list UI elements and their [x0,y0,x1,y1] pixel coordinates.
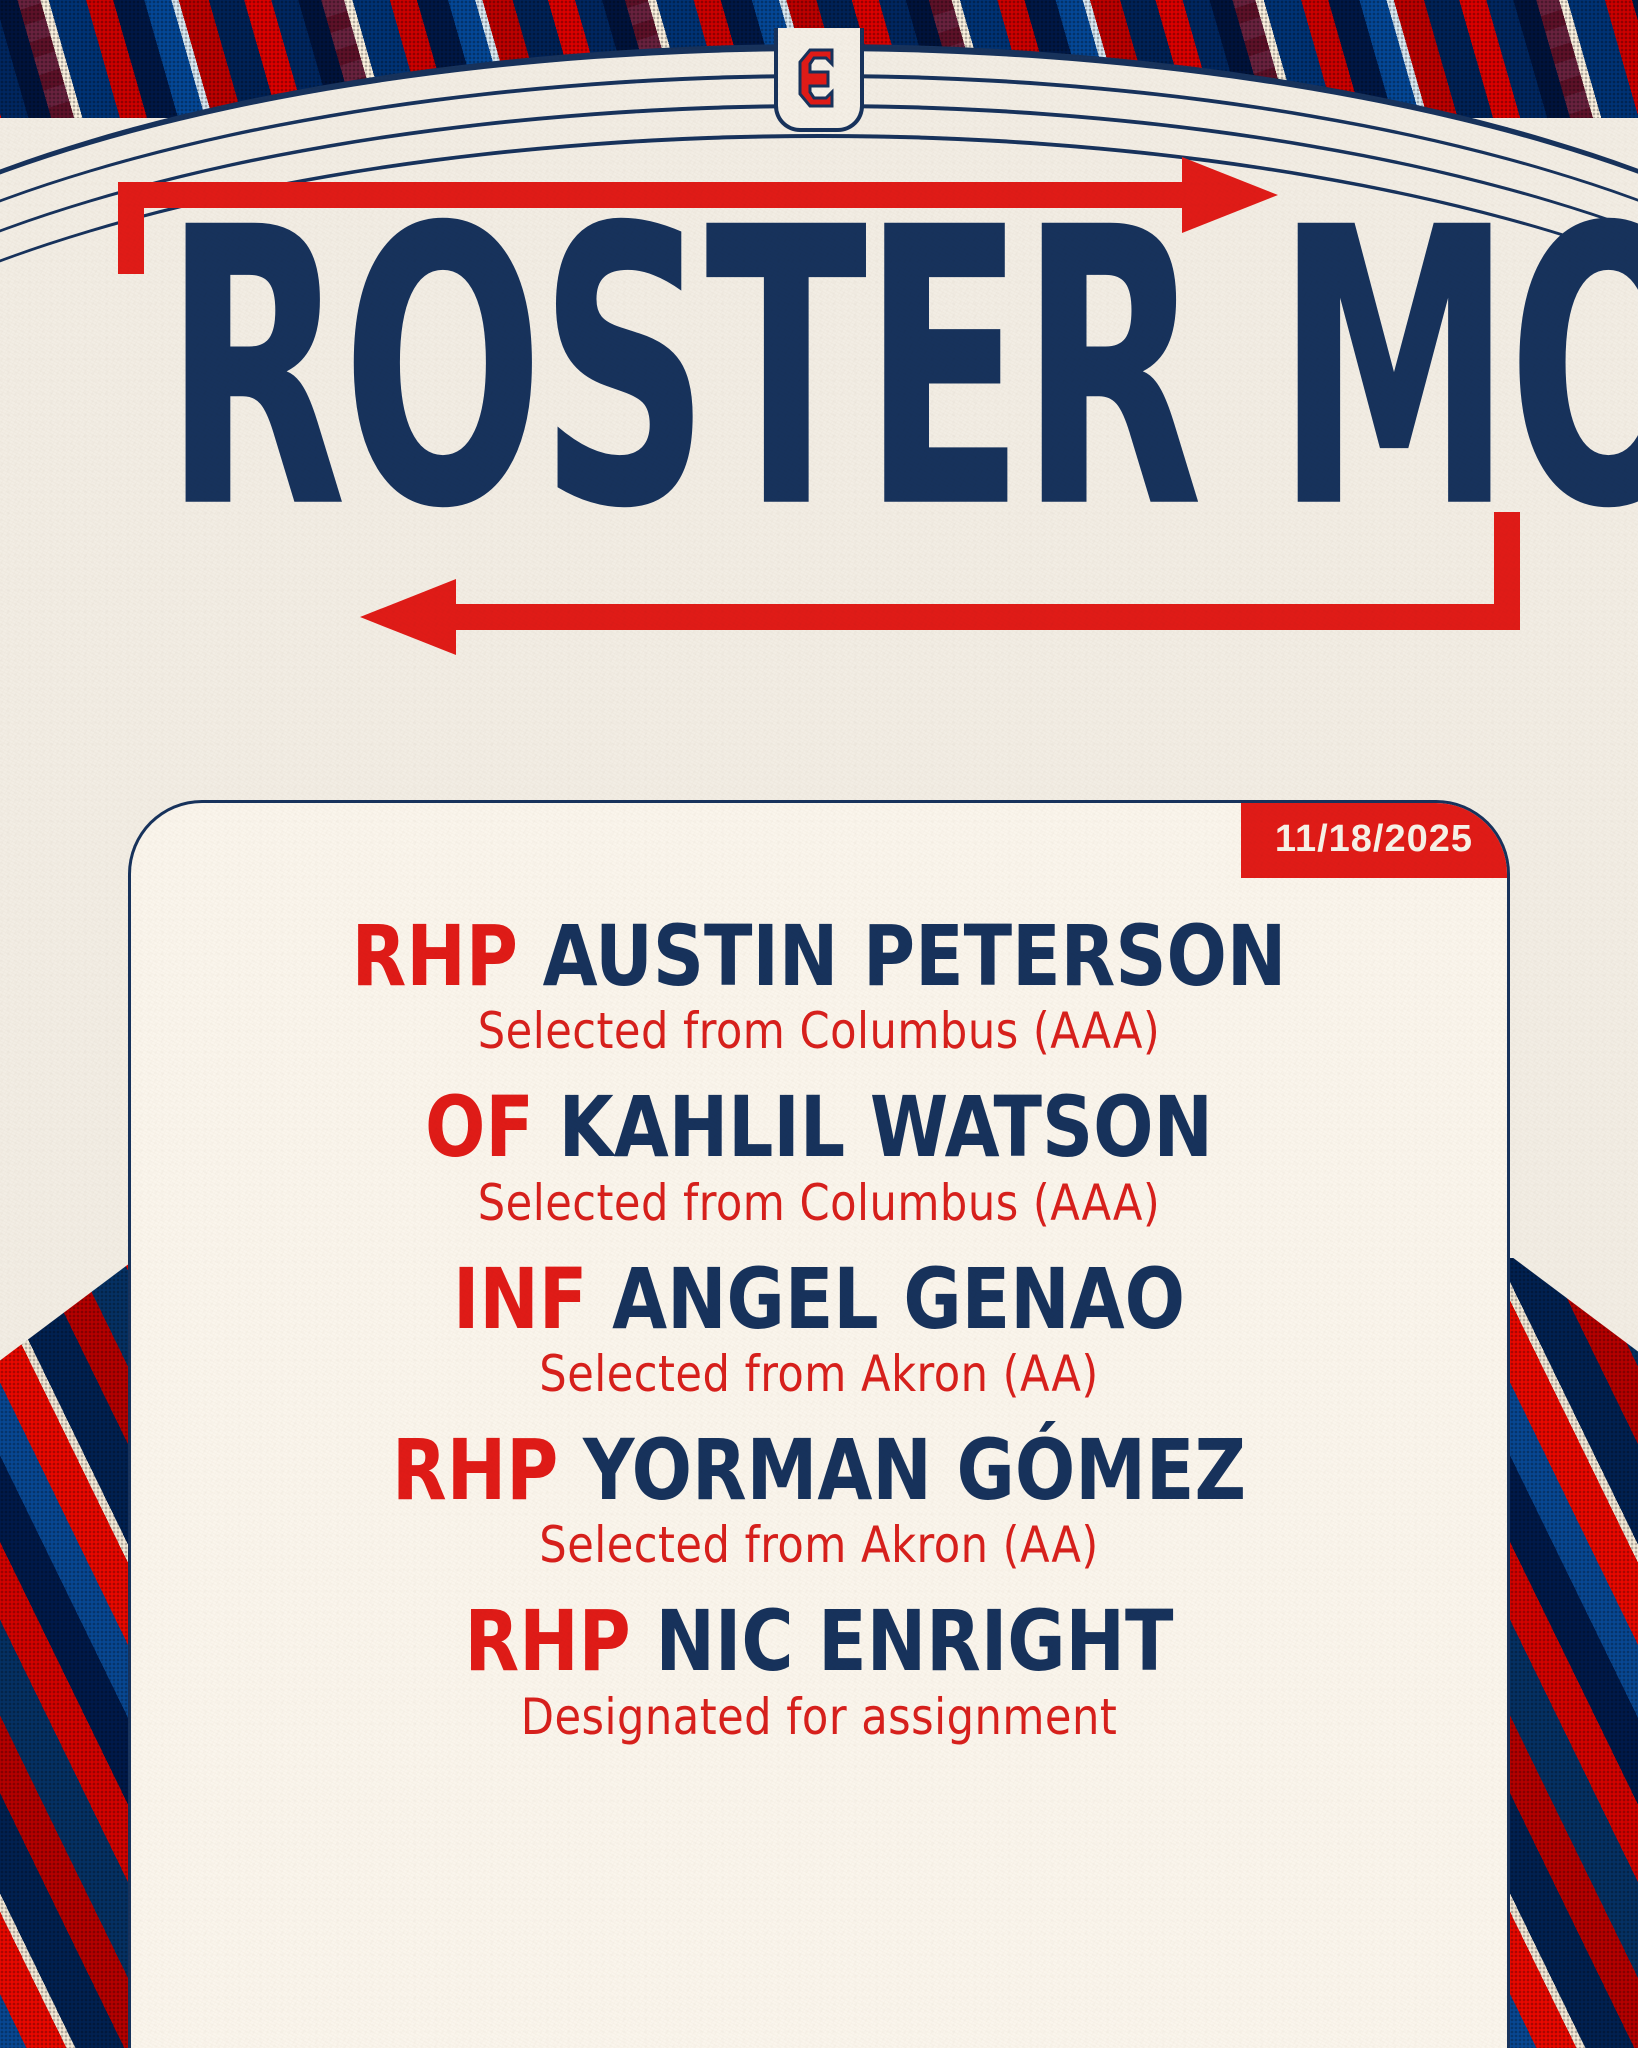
player-name: AUSTIN PETERSON [543,907,1287,1005]
move-detail: Designated for assignment [159,1688,1480,1746]
player-headline: OF KAHLIL WATSON [172,1084,1465,1171]
player-name: YORMAN GÓMEZ [583,1421,1246,1519]
player-position: RHP [352,907,518,1005]
arrow-left-icon [360,590,1520,638]
date-badge: 11/18/2025 [1241,803,1507,878]
page-title: ROSTER MOVE [164,206,1474,535]
move-detail: Selected from Columbus (AAA) [159,1174,1480,1232]
move-detail: Selected from Akron (AA) [159,1516,1480,1574]
player-position: RHP [392,1421,558,1519]
player-headline: RHP YORMAN GÓMEZ [172,1427,1465,1514]
move-detail: Selected from Columbus (AAA) [159,1002,1480,1060]
roster-move-card: 11/18/2025 RHP AUSTIN PETERSONSelected f… [128,800,1510,2048]
player-name: KAHLIL WATSON [559,1078,1213,1176]
move-detail: Selected from Akron (AA) [159,1345,1480,1403]
player-name: NIC ENRIGHT [655,1592,1173,1690]
player-name: ANGEL GENAO [612,1250,1185,1348]
roster-move-row: OF KAHLIL WATSONSelected from Columbus (… [131,1084,1507,1231]
roster-move-row: INF ANGEL GENAOSelected from Akron (AA) [131,1256,1507,1403]
roster-move-row: RHP YORMAN GÓMEZSelected from Akron (AA) [131,1427,1507,1574]
player-position: INF [453,1250,587,1348]
left-photo-collage [0,1258,128,2048]
guardians-c-logo [774,28,864,132]
headline-zone: ROSTER MOVE [0,146,1638,726]
roster-move-row: RHP AUSTIN PETERSONSelected from Columbu… [131,913,1507,1060]
roster-move-row: RHP NIC ENRIGHTDesignated for assignment [131,1598,1507,1745]
player-headline: INF ANGEL GENAO [172,1256,1465,1343]
player-position: OF [425,1078,534,1176]
right-photo-collage [1510,1258,1638,2048]
poster-stage: ROSTER MOVE 11/18/2025 RHP AUSTIN PETERS… [0,0,1638,2048]
player-position: RHP [465,1592,631,1690]
player-headline: RHP AUSTIN PETERSON [172,913,1465,1000]
roster-move-list: RHP AUSTIN PETERSONSelected from Columbu… [131,913,1507,1770]
player-headline: RHP NIC ENRIGHT [172,1598,1465,1685]
